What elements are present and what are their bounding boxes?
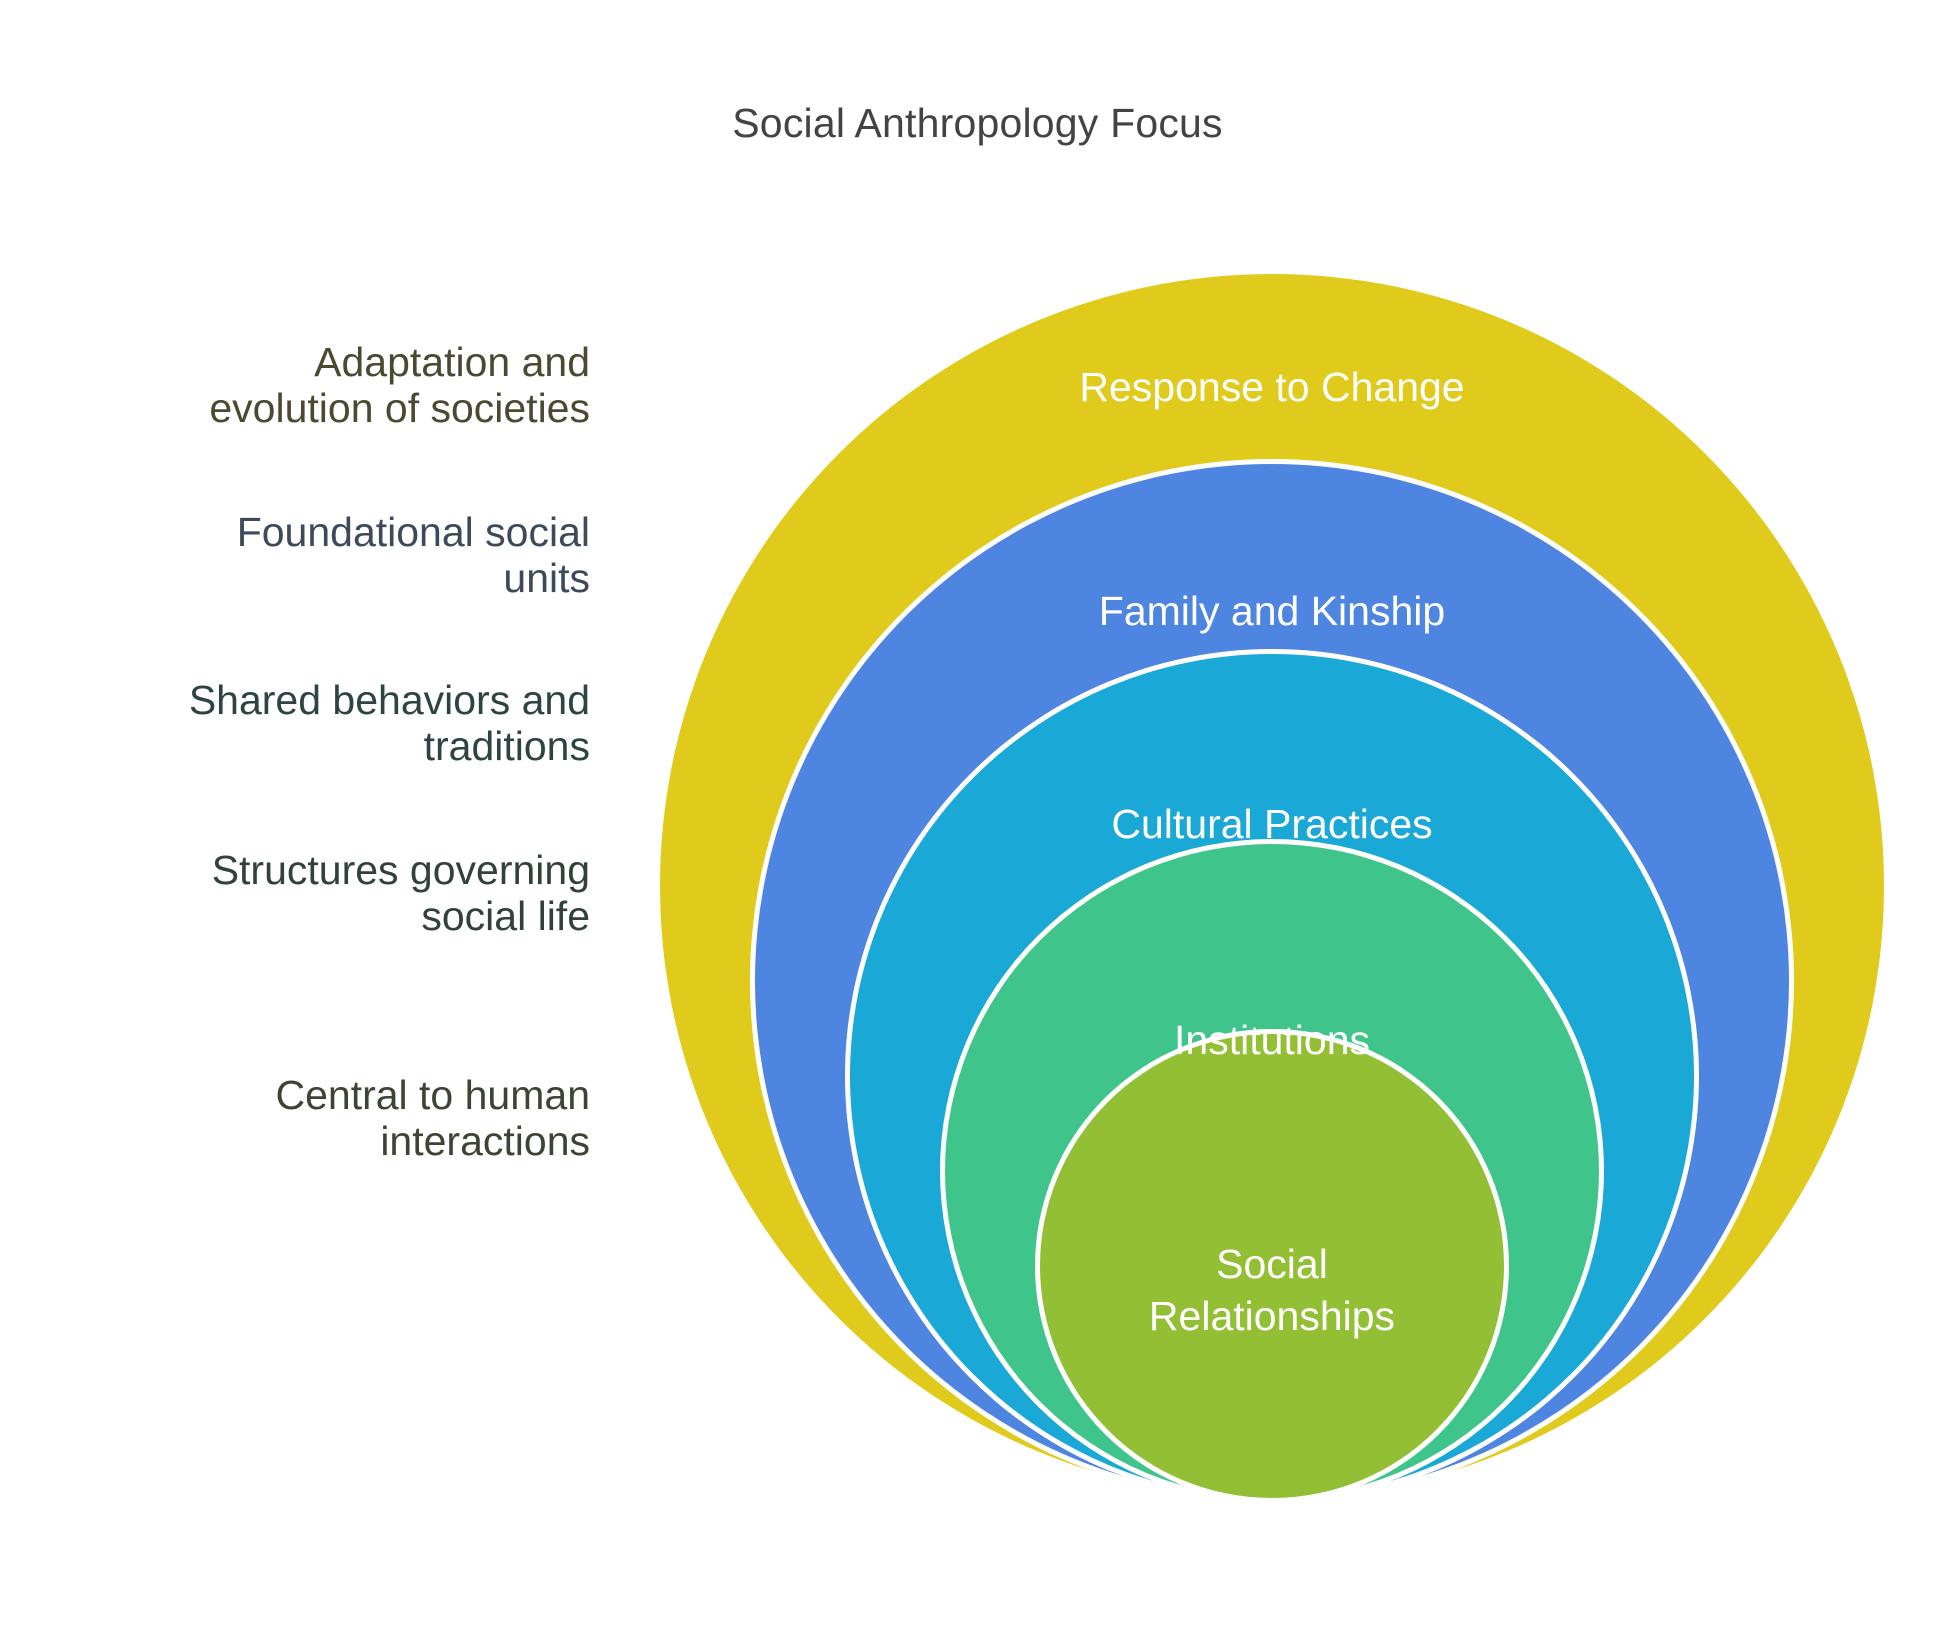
ring-label: Family and Kinship: [1099, 588, 1445, 634]
ring-label: Response to Change: [1079, 364, 1464, 410]
ring-label: Institutions: [1174, 1017, 1370, 1063]
ring-label: Cultural Practices: [1111, 801, 1432, 847]
diagram-canvas: Social Anthropology Focus Adaptation and…: [0, 0, 1955, 1626]
nested-circles-group: Response to ChangeFamily and KinshipCult…: [0, 0, 1955, 1626]
